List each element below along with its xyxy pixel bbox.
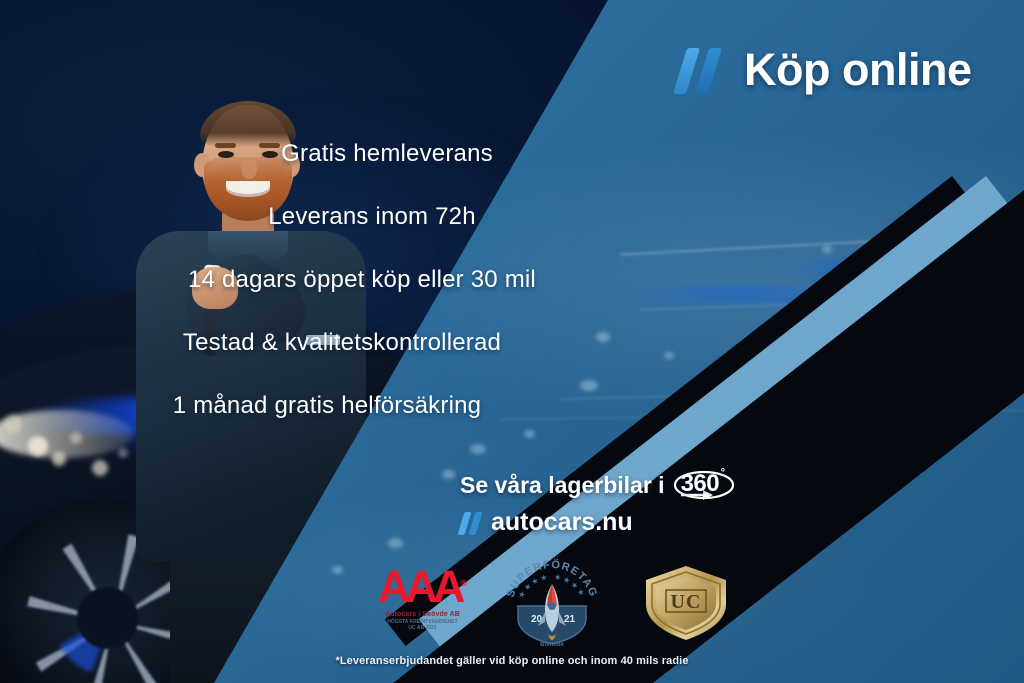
benefits-list: Gratis hemleverans Leverans inom 72h 14 … bbox=[0, 140, 1024, 455]
aaa-letters: AAA bbox=[378, 561, 461, 612]
benefit-item: 1 månad gratis helförsäkring bbox=[0, 392, 1024, 420]
double-slash-icon-small bbox=[460, 510, 484, 536]
aaa-rating-logo: AAA® Autocars i Skövde AB HÖGSTA KREDITV… bbox=[355, 564, 490, 632]
banner-content: Köp online Gratis hemleverans Leverans i… bbox=[0, 0, 1024, 683]
svg-text:Bisnode: Bisnode bbox=[540, 642, 564, 648]
certification-logos: AAA® Autocars i Skövde AB HÖGSTA KREDITV… bbox=[355, 556, 755, 648]
aaa-subtext: HÖGSTA KREDITVÄRDIGHET UC AB 2021 bbox=[355, 619, 490, 632]
cta-line-2[interactable]: autocars.nu bbox=[460, 508, 735, 537]
double-slash-icon bbox=[676, 44, 728, 96]
cta-block[interactable]: Se våra lagerbilar i 360 ° autocars.nu bbox=[460, 466, 735, 537]
svg-text:UC: UC bbox=[671, 591, 702, 613]
disclaimer-text: *Leveranserbjudandet gäller vid köp onli… bbox=[0, 655, 1024, 667]
promo-banner: Köp online Gratis hemleverans Leverans i… bbox=[0, 0, 1024, 683]
benefit-item: Gratis hemleverans bbox=[0, 140, 1024, 168]
website-link[interactable]: autocars.nu bbox=[491, 508, 633, 537]
headline-row: Köp online bbox=[676, 44, 971, 96]
degree-symbol: ° bbox=[721, 467, 725, 479]
360-number: 360 bbox=[681, 470, 720, 498]
superforetag-badge-logo: SUPERFÖRETAG ★★★★ ★★★★ 20 21 Bisnode bbox=[498, 556, 606, 648]
cta-text: Se våra lagerbilar i bbox=[460, 472, 665, 499]
aaa-company-name: Autocars i Skövde AB bbox=[355, 611, 490, 618]
registered-trademark-icon: ® bbox=[460, 578, 467, 588]
cta-line-1: Se våra lagerbilar i 360 ° bbox=[460, 466, 735, 504]
360-view-icon: 360 ° bbox=[673, 466, 735, 504]
uc-shield-logo: UC bbox=[640, 560, 732, 646]
benefit-item: Leverans inom 72h bbox=[0, 203, 1024, 231]
aaa-mark: AAA® bbox=[355, 564, 490, 609]
svg-text:21: 21 bbox=[564, 614, 576, 625]
page-title: Köp online bbox=[744, 44, 971, 96]
benefit-item: 14 dagars öppet köp eller 30 mil bbox=[0, 266, 1024, 294]
benefit-item: Testad & kvalitetskontrollerad bbox=[0, 329, 1024, 357]
